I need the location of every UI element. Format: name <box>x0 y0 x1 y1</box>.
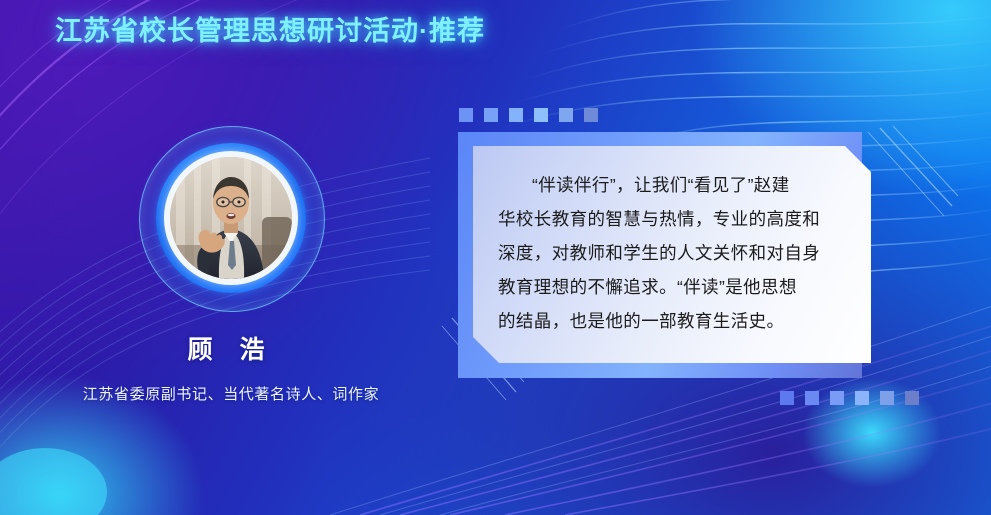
portrait-illustration <box>170 157 292 279</box>
quote-line: 教育理想的不懈追求。“伴读”是他思想 <box>498 270 828 304</box>
quote-line: 华校长教育的智慧与热情，专业的高度和 <box>498 202 828 236</box>
quote-line: 的结晶，也是他的一部教育生活史。 <box>498 304 828 338</box>
quote-line: “伴读伴行”，让我们“看见了”赵建 <box>498 168 828 202</box>
decor-square <box>805 391 819 405</box>
speaker-photo <box>170 157 292 279</box>
decor-square <box>484 108 498 122</box>
decor-square <box>905 391 919 405</box>
decor-square <box>855 391 869 405</box>
speaker-title: 江苏省委原副书记、当代著名诗人、词作家 <box>36 383 426 404</box>
decor-square <box>459 108 473 122</box>
slide-canvas: 江苏省校长管理思想研讨活动·推荐 <box>0 0 991 515</box>
speaker-name: 顾 浩 <box>36 330 426 366</box>
quote-text: “伴读伴行”，让我们“看见了”赵建华校长教育的智慧与热情，专业的高度和深度，对教… <box>498 168 828 338</box>
decor-square <box>780 391 794 405</box>
quote-card: “伴读伴行”，让我们“看见了”赵建华校长教育的智慧与热情，专业的高度和深度，对教… <box>458 132 862 378</box>
decor-square <box>880 391 894 405</box>
decor-square <box>830 391 844 405</box>
decor-square <box>509 108 523 122</box>
decor-square <box>559 108 573 122</box>
decor-square <box>584 108 598 122</box>
avatar <box>139 126 323 310</box>
quote-line: 深度，对教师和学生的人文关怀和对自身 <box>498 236 828 270</box>
dots-row-bottom <box>780 391 919 405</box>
speaker-block: 顾 浩 江苏省委原副书记、当代著名诗人、词作家 <box>36 126 426 404</box>
page-title: 江苏省校长管理思想研讨活动·推荐 <box>55 9 485 48</box>
dots-row-top <box>459 108 598 122</box>
decor-square <box>534 108 548 122</box>
